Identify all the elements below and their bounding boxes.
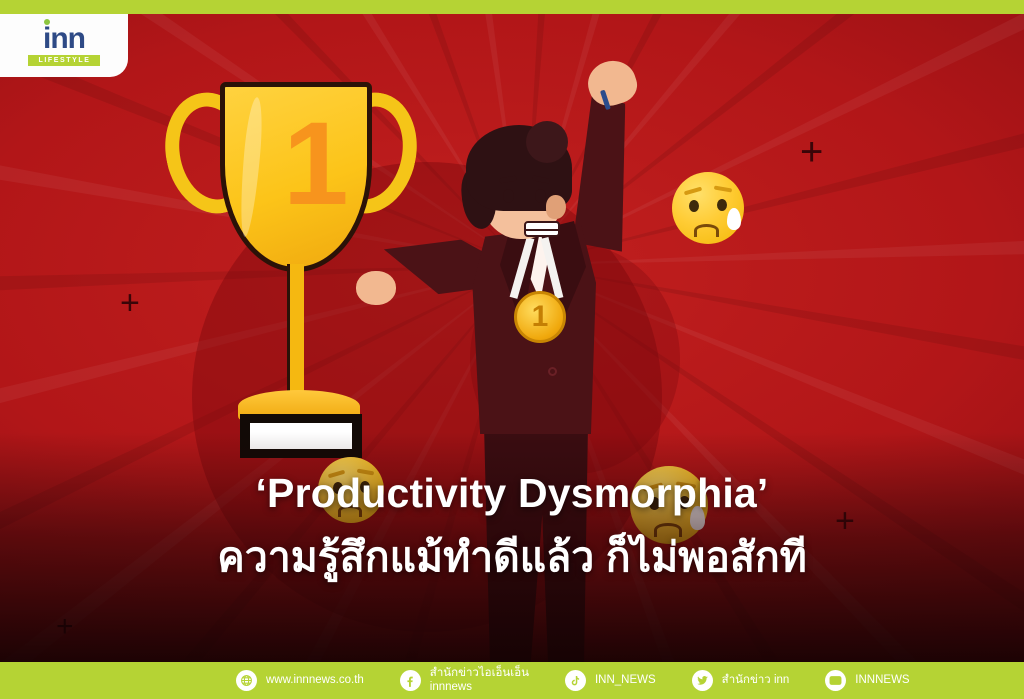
twitter-icon xyxy=(692,670,713,691)
footer-item-label: INN_NEWS xyxy=(595,674,656,687)
trophy-number: 1 xyxy=(283,117,335,223)
plus-decoration-icon: + xyxy=(120,286,140,320)
top-green-bar xyxy=(0,0,1024,14)
plus-decoration-icon: + xyxy=(800,132,823,172)
footer-item[interactable]: INNNEWS xyxy=(825,670,909,691)
footer-item-label: INNNEWS xyxy=(855,674,909,687)
news-graphic-card: + + + + 1 xyxy=(0,0,1024,699)
trophy-illustration: 1 xyxy=(160,74,430,439)
left-hand xyxy=(356,271,396,305)
globe-icon xyxy=(236,670,257,691)
logo-text: inn xyxy=(43,22,85,55)
footer-item[interactable]: สำนักข่าวไอเอ็นเอ็นinnnews xyxy=(400,667,529,693)
hair-bun xyxy=(526,121,568,163)
footer-item[interactable]: สำนักข่าว inn xyxy=(692,670,790,691)
headline-line-1: ‘Productivity Dysmorphia’ xyxy=(0,470,1024,517)
grimacing-mouth xyxy=(524,221,560,237)
footer-item-label: สำนักข่าวไอเอ็นเอ็นinnnews xyxy=(430,667,529,693)
trophy-stem xyxy=(287,264,304,398)
gold-medal: 1 xyxy=(514,291,566,343)
logo-wordmark: inn xyxy=(43,25,85,52)
footer-item[interactable]: www.innnews.co.th xyxy=(236,670,364,691)
logo-card[interactable]: inn LIFESTYLE xyxy=(0,14,128,77)
sad-face-with-tear-emoji xyxy=(672,172,744,244)
headline-line-2: ความรู้สึกแม้ทำดีแล้ว ก็ไม่พอสักที xyxy=(0,525,1024,590)
logo-badge: LIFESTYLE xyxy=(28,55,99,66)
footer-item-label: สำนักข่าว inn xyxy=(722,674,790,687)
suit-button xyxy=(548,367,557,376)
tiktok-icon xyxy=(565,670,586,691)
footer-item[interactable]: INN_NEWS xyxy=(565,670,656,691)
eye-left xyxy=(503,189,514,203)
medal-number: 1 xyxy=(517,294,563,340)
facebook-icon xyxy=(400,670,421,691)
nose xyxy=(546,195,566,219)
youtube-icon xyxy=(825,670,846,691)
eye-right xyxy=(535,189,546,203)
footer-item-sublabel: innnews xyxy=(430,681,529,694)
trophy-cup: 1 xyxy=(220,82,372,272)
headline-block: ‘Productivity Dysmorphia’ ความรู้สึกแม้ท… xyxy=(0,470,1024,590)
footer-item-label: www.innnews.co.th xyxy=(266,674,364,687)
social-footer-bar: www.innnews.co.thสำนักข่าวไอเอ็นเอ็นinnn… xyxy=(0,662,1024,699)
logo-dot-icon xyxy=(44,19,50,25)
